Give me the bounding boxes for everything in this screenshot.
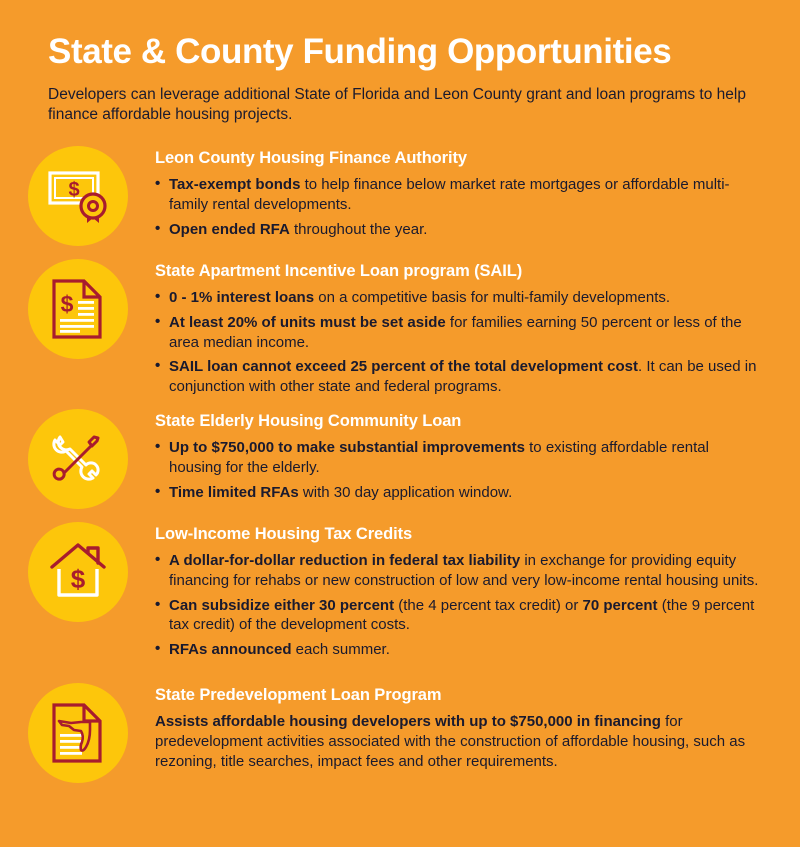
text-column: State Apartment Incentive Loan program (…	[155, 256, 776, 397]
bullet-bold-text: RFAs announced	[169, 641, 292, 658]
document-dollar-icon: $	[50, 278, 106, 340]
bullet-bold-text: Up to $750,000 to make substantial impro…	[169, 439, 525, 456]
bullet-list: A dollar-for-dollar reduction in federal…	[155, 551, 762, 659]
bullet-bold-text-2: 70 percent	[583, 597, 658, 614]
svg-text:$: $	[70, 564, 85, 594]
icon-circle	[28, 683, 128, 783]
icon-column: $	[0, 256, 155, 359]
bullet-rest-text: on a competitive basis for multi-family …	[314, 289, 670, 306]
text-column: Low-Income Housing Tax Credits A dollar-…	[155, 519, 776, 660]
list-item: Open ended RFA throughout the year.	[155, 220, 762, 240]
icon-column	[0, 680, 155, 783]
wrench-screwdriver-icon	[48, 429, 108, 489]
bullet-list: 0 - 1% interest loans on a competitive b…	[155, 288, 762, 396]
svg-text:$: $	[60, 291, 73, 317]
list-item: 0 - 1% interest loans on a competitive b…	[155, 288, 762, 308]
icon-column: $	[0, 143, 155, 246]
list-item: Can subsidize either 30 percent (the 4 p…	[155, 596, 762, 635]
section-heading: State Predevelopment Loan Program	[155, 686, 762, 706]
section-paragraph: Assists affordable housing developers wi…	[155, 712, 762, 771]
icon-circle: $	[28, 146, 128, 246]
florida-document-icon	[50, 702, 106, 764]
list-item: RFAs announced each summer.	[155, 640, 762, 660]
page-subtitle: Developers can leverage additional State…	[48, 85, 748, 126]
svg-text:$: $	[68, 179, 79, 201]
bullet-rest-text: throughout the year.	[290, 221, 428, 238]
section-heading: Leon County Housing Finance Authority	[155, 149, 762, 169]
header: State & County Funding Opportunities Dev…	[0, 0, 800, 126]
section-state-apartment-incentive-loan: $ State Apartment Incentive Loan program…	[0, 256, 776, 397]
section-heading: State Elderly Housing Community Loan	[155, 412, 762, 432]
section-low-income-housing-tax-credits: $ Low-Income Housing Tax Credits A dolla…	[0, 519, 776, 671]
bullet-bold-text: 0 - 1% interest loans	[169, 289, 314, 306]
list-item: Time limited RFAs with 30 day applicatio…	[155, 483, 762, 503]
icon-circle: $	[28, 522, 128, 622]
bullet-rest-text: (the 4 percent tax credit) or	[394, 597, 582, 614]
page-title: State & County Funding Opportunities	[48, 34, 752, 71]
paragraph-bold-text: Assists affordable housing developers wi…	[155, 713, 661, 730]
section-leon-county-housing-finance-authority: $ Leon County Housing Finance Authority …	[0, 143, 776, 247]
icon-circle	[28, 409, 128, 509]
list-item: SAIL loan cannot exceed 25 percent of th…	[155, 357, 762, 396]
list-item: At least 20% of units must be set aside …	[155, 313, 762, 352]
bullet-bold-text: Tax-exempt bonds	[169, 176, 300, 193]
icon-circle: $	[28, 259, 128, 359]
house-dollar-icon: $	[46, 543, 110, 601]
text-column: State Elderly Housing Community Loan Up …	[155, 406, 776, 503]
list-item: Up to $750,000 to make substantial impro…	[155, 438, 762, 477]
section-heading: State Apartment Incentive Loan program (…	[155, 262, 762, 282]
icon-column: $	[0, 519, 155, 622]
icon-column	[0, 406, 155, 509]
infographic-page: State & County Funding Opportunities Dev…	[0, 0, 800, 847]
bullet-rest-text: with 30 day application window.	[299, 484, 512, 501]
bullet-bold-text: Open ended RFA	[169, 221, 290, 238]
bullet-bold-text: Time limited RFAs	[169, 484, 299, 501]
bullet-bold-text: Can subsidize either 30 percent	[169, 597, 394, 614]
money-ribbon-icon: $	[47, 167, 109, 225]
text-column: Leon County Housing Finance Authority Ta…	[155, 143, 776, 240]
bullet-list: Tax-exempt bonds to help finance below m…	[155, 175, 762, 239]
sections-list: $ Leon County Housing Finance Authority …	[0, 143, 800, 784]
bullet-rest-text: each summer.	[292, 641, 390, 658]
section-state-elderly-housing-community-loan: State Elderly Housing Community Loan Up …	[0, 406, 776, 510]
bullet-bold-text: At least 20% of units must be set aside	[169, 314, 446, 331]
bullet-bold-text: A dollar-for-dollar reduction in federal…	[169, 552, 520, 569]
bullet-list: Up to $750,000 to make substantial impro…	[155, 438, 762, 502]
list-item: A dollar-for-dollar reduction in federal…	[155, 551, 762, 590]
section-state-predevelopment-loan-program: State Predevelopment Loan Program Assist…	[0, 680, 776, 784]
section-heading: Low-Income Housing Tax Credits	[155, 525, 762, 545]
list-item: Tax-exempt bonds to help finance below m…	[155, 175, 762, 214]
bullet-bold-text: SAIL loan cannot exceed 25 percent of th…	[169, 358, 638, 375]
text-column: State Predevelopment Loan Program Assist…	[155, 680, 776, 772]
